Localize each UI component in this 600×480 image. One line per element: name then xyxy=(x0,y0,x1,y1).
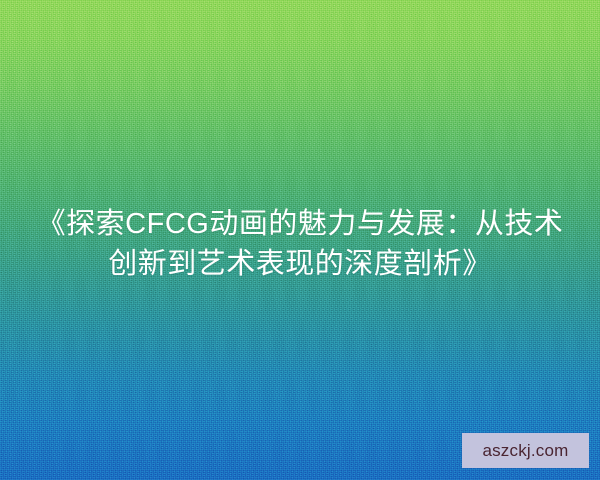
watermark-label: aszckj.com xyxy=(482,442,568,459)
title-line-2: 创新到艺术表现的深度剖析》 xyxy=(26,244,574,284)
page-title: 《探索CFCG动画的魅力与发展：从技术 创新到艺术表现的深度剖析》 xyxy=(0,204,600,284)
article-header-banner: 《探索CFCG动画的魅力与发展：从技术 创新到艺术表现的深度剖析》 aszckj… xyxy=(0,0,600,480)
title-line-1: 《探索CFCG动画的魅力与发展：从技术 xyxy=(26,204,574,244)
watermark-badge: aszckj.com xyxy=(462,433,589,468)
